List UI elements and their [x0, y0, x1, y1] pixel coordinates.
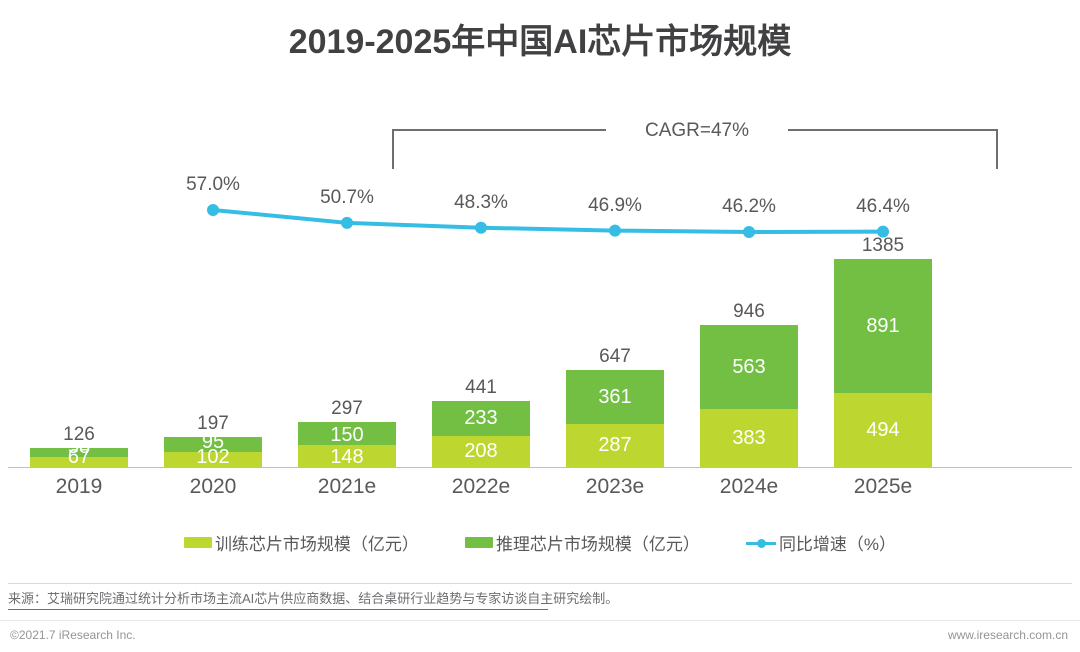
chart-page: 2019-2025年中国AI芯片市场规模 CAGR=47% 5867126951… — [0, 0, 1080, 651]
legend-item[interactable]: 同比增速（%） — [746, 530, 896, 555]
x-axis-tick-label: 2019 — [12, 475, 146, 499]
x-axis-tick-label: 2021e — [280, 475, 414, 499]
legend-swatch-icon — [184, 537, 212, 548]
legend-label: 推理芯片市场规模（亿元） — [496, 530, 700, 555]
source-note: 来源：艾瑞研究院通过统计分析市场主流AI芯片供应商数据、结合桌研行业趋势与专家访… — [8, 588, 1068, 607]
source-underline — [8, 609, 548, 610]
x-axis-tick-label: 2020 — [146, 475, 280, 499]
legend-line-marker-icon — [746, 537, 776, 549]
x-axis-tick-label: 2023e — [548, 475, 682, 499]
page-footer: ©2021.7 iResearch Inc. www.iresearch.com… — [0, 620, 1080, 652]
growth-rate-value-label: 50.7% — [280, 187, 414, 209]
website-link[interactable]: www.iresearch.com.cn — [948, 628, 1068, 642]
legend-item[interactable]: 训练芯片市场规模（亿元） — [184, 530, 419, 555]
growth-rate-value-label: 46.2% — [682, 196, 816, 218]
growth-rate-value-label: 46.9% — [548, 195, 682, 217]
growth-rate-value-label: 46.4% — [816, 196, 950, 218]
legend-swatch-icon — [465, 537, 493, 548]
growth-rate-value-label: 57.0% — [146, 174, 280, 196]
legend-label: 同比增速（%） — [779, 530, 896, 555]
plot-area: CAGR=47% 5867126951021971501482972332084… — [0, 80, 1080, 480]
x-axis-tick-label: 2022e — [414, 475, 548, 499]
page-title: 2019-2025年中国AI芯片市场规模 — [0, 14, 1080, 63]
x-axis-labels: 201920202021e2022e2023e2024e2025e — [0, 475, 1080, 509]
chart-legend: 训练芯片市场规模（亿元）推理芯片市场规模（亿元）同比增速（%） — [0, 530, 1080, 555]
legend-item[interactable]: 推理芯片市场规模（亿元） — [465, 530, 700, 555]
source-divider — [8, 583, 1072, 584]
x-axis-tick-label: 2024e — [682, 475, 816, 499]
growth-rate-value-label: 48.3% — [414, 192, 548, 214]
x-axis-tick-label: 2025e — [816, 475, 950, 499]
growth-rate-labels: 57.0%50.7%48.3%46.9%46.2%46.4% — [0, 80, 1080, 480]
copyright-text: ©2021.7 iResearch Inc. — [10, 628, 136, 642]
legend-label: 训练芯片市场规模（亿元） — [215, 530, 419, 555]
